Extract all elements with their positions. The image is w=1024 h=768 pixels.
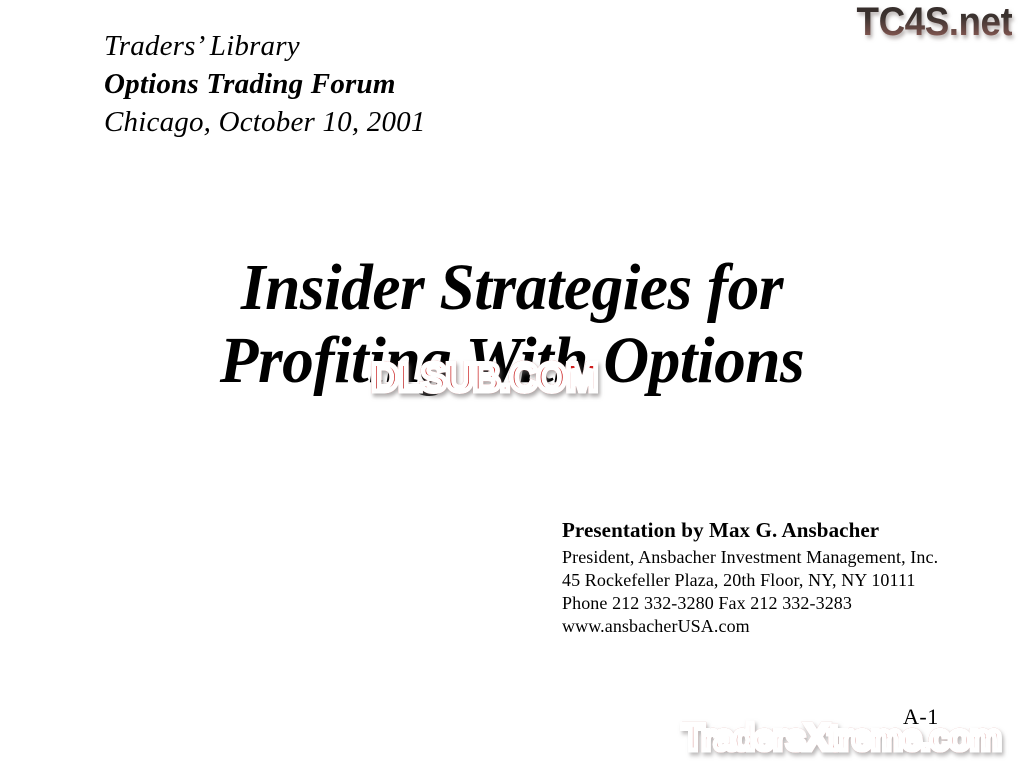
presenter-website: www.ansbacherUSA.com	[562, 617, 938, 635]
presenter-info: Presentation by Max G. Ansbacher Preside…	[562, 520, 938, 635]
presenter-address: 45 Rockefeller Plaza, 20th Floor, NY, NY…	[562, 571, 938, 589]
event-header: Traders’ Library Options Trading Forum C…	[104, 32, 426, 137]
tradersxtreme-watermark: TradersXtreme.com	[682, 719, 1001, 756]
presentation-slide: Traders’ Library Options Trading Forum C…	[0, 0, 1024, 768]
presenter-name: Presentation by Max G. Ansbacher	[562, 520, 938, 541]
dlsub-watermark: DLSUB.COM	[371, 358, 597, 398]
title-line-1: Insider Strategies for	[20, 252, 1003, 325]
event-name: Options Trading Forum	[104, 70, 426, 99]
presenter-phone: Phone 212 332-3280 Fax 212 332-3283	[562, 594, 938, 612]
event-location-date: Chicago, October 10, 2001	[104, 108, 426, 137]
event-organizer: Traders’ Library	[104, 32, 426, 61]
presenter-role: President, Ansbacher Investment Manageme…	[562, 548, 938, 566]
tc4s-watermark: TC4S.net	[856, 2, 1012, 42]
